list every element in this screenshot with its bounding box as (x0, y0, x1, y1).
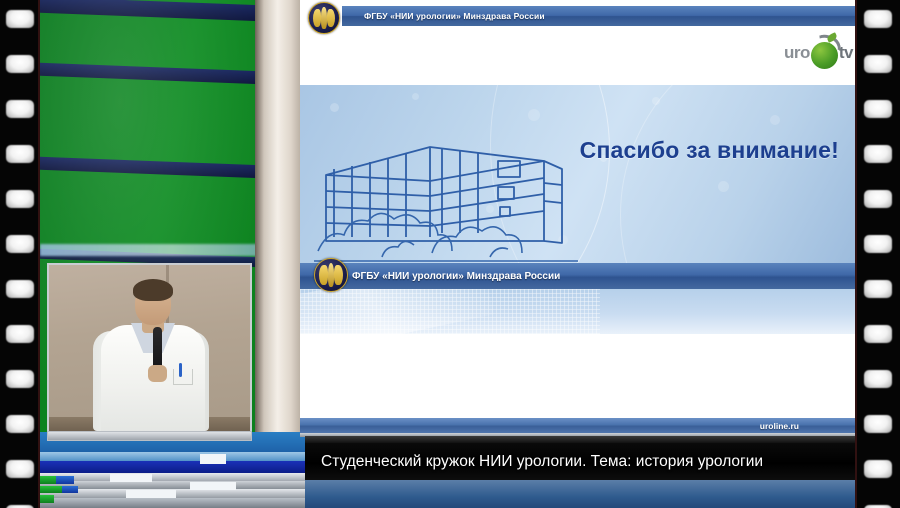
film-sprocket-hole (6, 55, 34, 73)
institute-building-illustration (312, 133, 582, 263)
film-sprocket-hole (6, 100, 34, 118)
presenter-inset-base (47, 431, 252, 441)
film-sprocket-hole (6, 325, 34, 343)
film-sprocket-hole (6, 460, 34, 478)
film-strip-right (855, 0, 900, 508)
hero-bokeh (330, 103, 339, 112)
caption-bottom-edge (305, 480, 855, 508)
desk-accent (190, 482, 236, 490)
hero-bokeh (652, 97, 660, 105)
presenter-video-inset[interactable] (47, 263, 252, 435)
slide-hero-title: Спасибо за внимание! (580, 137, 839, 164)
film-sprocket-hole (864, 100, 892, 118)
hero-bokeh (528, 109, 540, 121)
slide-white-area (300, 334, 855, 418)
studio-desk (40, 432, 305, 508)
slide-footer-bar: ФГБУ «НИИ урологии» Минздрава России (300, 263, 855, 289)
desk-accent (126, 490, 176, 498)
film-sprocket-hole (6, 415, 34, 433)
hero-bokeh (718, 181, 729, 192)
caption-top-edge (305, 436, 855, 443)
presentation-slide[interactable]: ФГБУ «НИИ урологии» Минздрава России uro… (300, 0, 855, 437)
film-edge (855, 0, 857, 508)
slide-hero-band: Спасибо за внимание! (300, 85, 855, 263)
slide-url-text: uroline.ru (760, 421, 799, 431)
nii-urology-emblem-icon (308, 2, 340, 34)
video-caption-text: Студенческий кружок НИИ урологии. Тема: … (321, 453, 763, 471)
video-caption-bar: Студенческий кружок НИИ урологии. Тема: … (305, 443, 855, 480)
film-sprocket-hole (864, 10, 892, 28)
film-sprocket-hole (6, 10, 34, 28)
film-sprocket-hole (864, 370, 892, 388)
desk-accent (40, 486, 62, 493)
film-sprocket-hole (864, 280, 892, 298)
desk-band (40, 498, 305, 508)
desk-accent (40, 495, 54, 503)
slide-header: ФГБУ «НИИ урологии» Минздрава России (300, 0, 855, 30)
nii-urology-emblem-icon-footer (314, 258, 348, 292)
film-sprocket-hole (6, 190, 34, 208)
film-edge (38, 0, 40, 508)
desk-accent (110, 474, 152, 482)
slide-footer-title: ФГБУ «НИИ урологии» Минздрава России (352, 271, 560, 282)
slide-header-title: ФГБУ «НИИ урологии» Минздрава России (364, 11, 545, 21)
presenter-hand (148, 365, 167, 382)
film-sprocket-hole (6, 280, 34, 298)
presenter-hair (133, 279, 173, 301)
urotv-green-ball-icon (808, 36, 842, 70)
desk-accent (56, 476, 74, 484)
film-sprocket-hole (864, 190, 892, 208)
slide-texture-band (300, 289, 855, 334)
hero-arc (620, 85, 855, 263)
film-sprocket-hole (864, 145, 892, 163)
urotv-logo-uro-text: uro (784, 43, 810, 63)
desk-accent (40, 476, 56, 484)
film-sprocket-hole (864, 460, 892, 478)
desk-accent (62, 486, 78, 493)
hero-bokeh (412, 93, 419, 100)
hero-bokeh (770, 115, 780, 125)
film-sprocket-hole (6, 235, 34, 253)
film-sprocket-hole (864, 415, 892, 433)
film-sprocket-hole (6, 370, 34, 388)
desk-accent (200, 454, 226, 464)
video-player-frame: ФГБУ «НИИ урологии» Минздрава России uro… (0, 0, 900, 508)
slide-url-bar: uroline.ru (300, 418, 855, 433)
film-sprocket-hole (864, 235, 892, 253)
film-sprocket-hole (864, 325, 892, 343)
film-strip-left (0, 0, 40, 508)
film-sprocket-hole (864, 55, 892, 73)
urotv-logo[interactable]: uro tv (784, 36, 853, 70)
presenter-pen (179, 363, 182, 377)
slide-header-bar: ФГБУ «НИИ урологии» Минздрава России (342, 6, 855, 26)
presenter-pocket (173, 369, 193, 385)
film-sprocket-hole (6, 145, 34, 163)
